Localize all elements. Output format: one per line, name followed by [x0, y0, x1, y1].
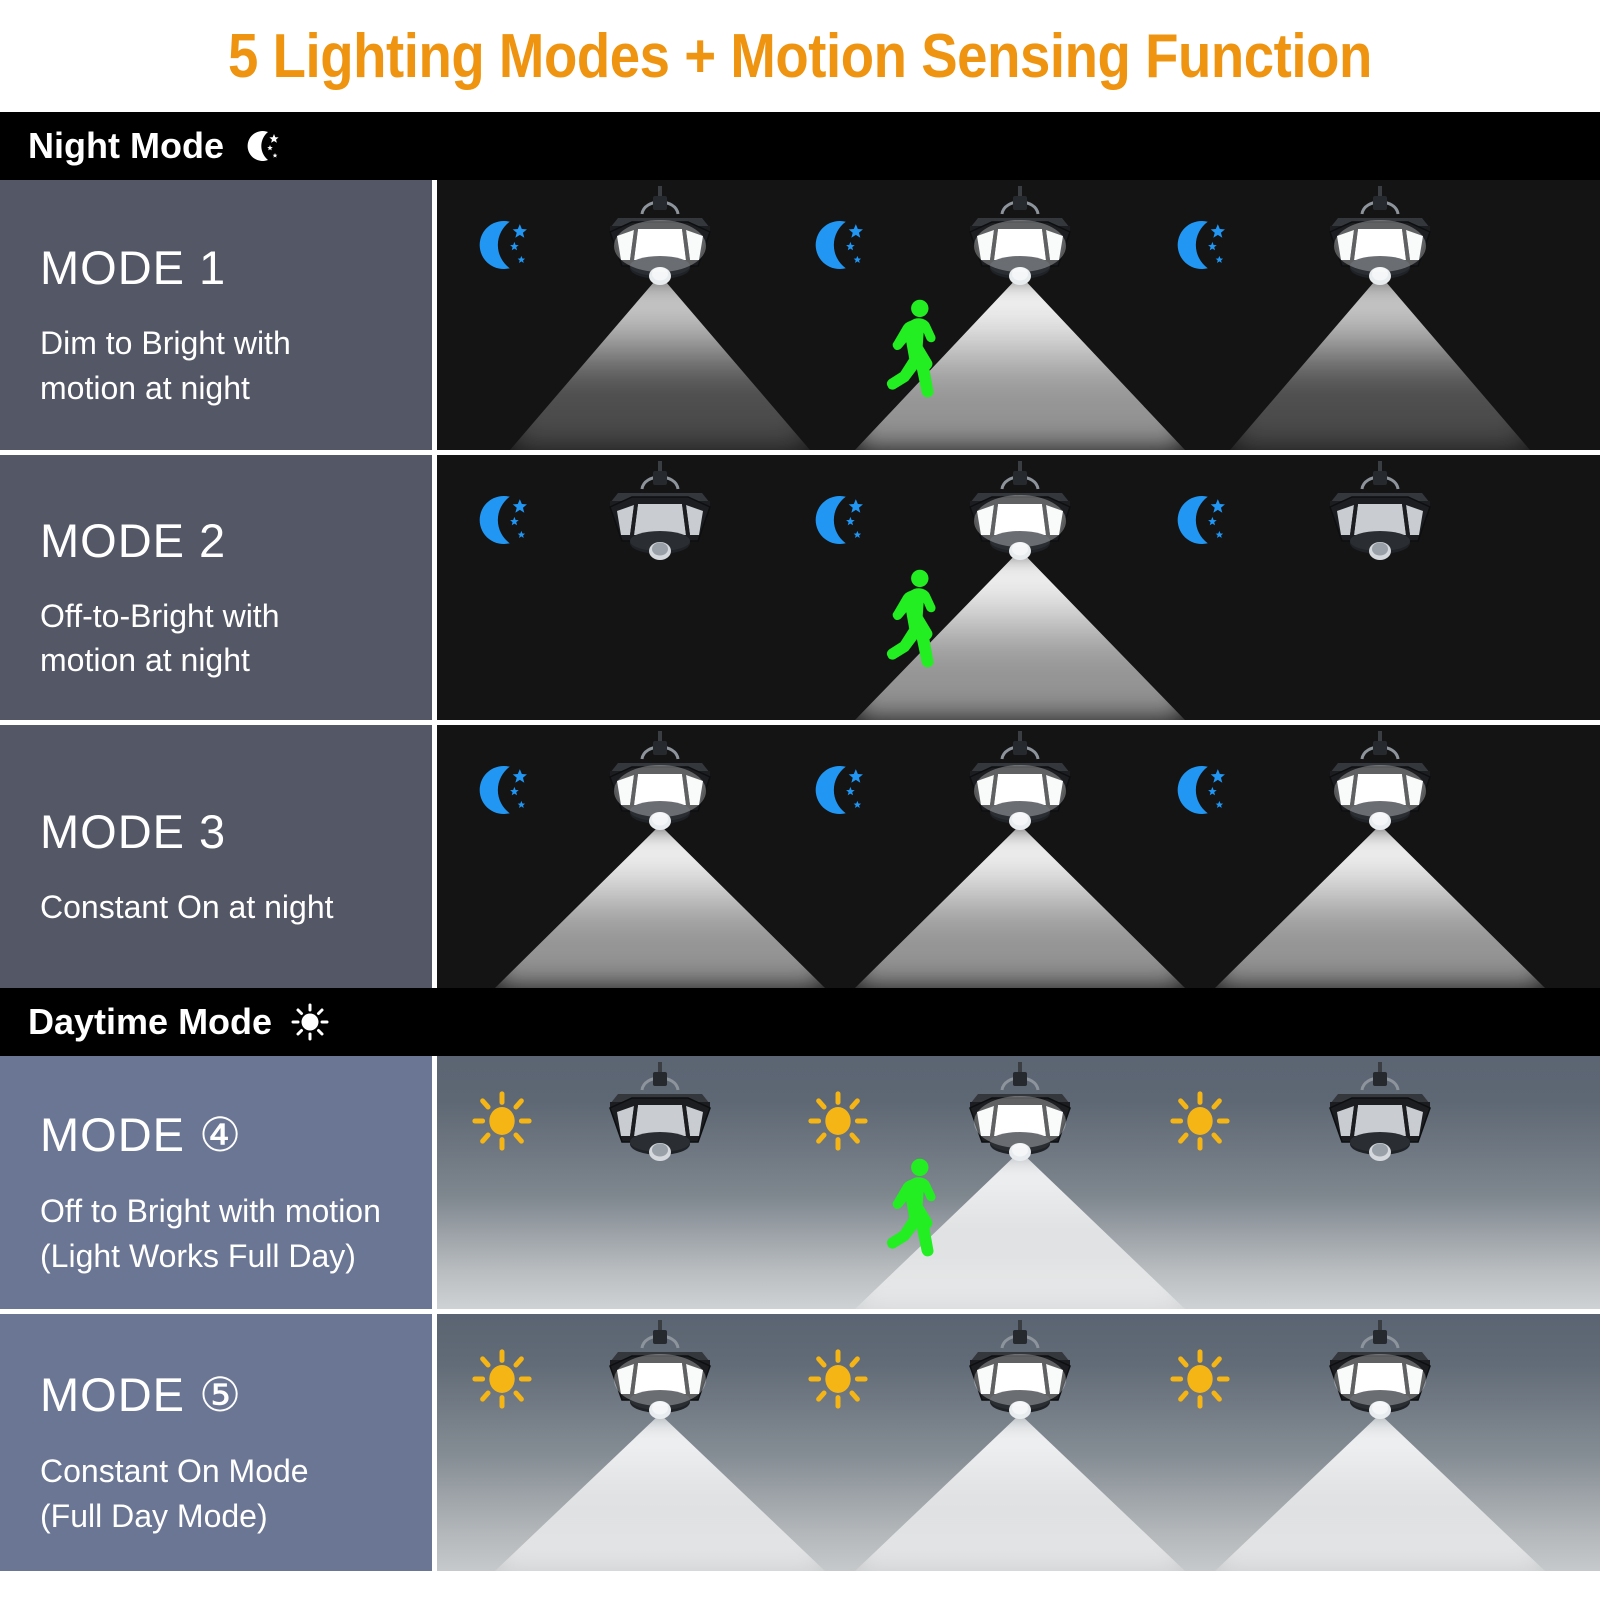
crescent-moon-icon: [471, 214, 533, 281]
solar-lamp-fixture: [1280, 729, 1480, 854]
infographic-page: 5 Lighting Modes + Motion Sensing Functi…: [0, 0, 1600, 1600]
sun-icon: [1169, 1348, 1231, 1415]
mode-title-2: MODE 2: [40, 513, 406, 568]
mode-description-3: Constant On at night: [40, 885, 406, 929]
sun-icon: [471, 1090, 533, 1157]
solar-lamp-fixture: [1280, 459, 1480, 584]
mode-row-2: MODE 2 Off-to-Bright withmotion at night: [0, 455, 1600, 725]
section-header-night: Night Mode: [0, 112, 1600, 180]
crescent-moon-icon: [807, 759, 869, 826]
crescent-moon-icon: [471, 489, 533, 556]
section-label-daytime: Daytime Mode: [28, 1001, 272, 1043]
solar-lamp-fixture: [920, 184, 1120, 309]
mode-description-line: (Full Day Mode): [40, 1494, 406, 1538]
mode-description-5: Constant On Mode(Full Day Mode): [40, 1449, 406, 1537]
sun-icon: [290, 1002, 330, 1042]
mode-info-panel-5: MODE ⑤ Constant On Mode(Full Day Mode): [0, 1314, 437, 1571]
mode-row-4: MODE ④ Off to Bright with motion(Light W…: [0, 1056, 1600, 1314]
solar-lamp-fixture: [560, 459, 760, 584]
solar-lamp-fixture: [560, 1060, 760, 1185]
crescent-moon-stars-icon: [242, 126, 282, 166]
mode-description-line: Constant On at night: [40, 885, 406, 929]
mode-description-line: Dim to Bright with: [40, 321, 406, 365]
mode-scene-5: [437, 1314, 1600, 1571]
sun-icon: [471, 1348, 533, 1415]
mode-description-line: Constant On Mode: [40, 1449, 406, 1493]
solar-lamp-fixture: [1280, 1318, 1480, 1443]
crescent-moon-icon: [471, 759, 533, 826]
motion-runner-silhouette: [885, 295, 943, 408]
mode-title-3: MODE 3: [40, 804, 406, 859]
crescent-moon-icon: [807, 489, 869, 556]
mode-title-4: MODE ④: [40, 1107, 406, 1163]
mode-info-panel-4: MODE ④ Off to Bright with motion(Light W…: [0, 1056, 437, 1309]
mode-info-panel-1: MODE 1 Dim to Bright withmotion at night: [0, 180, 437, 450]
section-label-night: Night Mode: [28, 125, 224, 167]
crescent-moon-icon: [1169, 214, 1231, 281]
mode-description-line: (Light Works Full Day): [40, 1234, 406, 1278]
section-header-daytime: Daytime Mode: [0, 988, 1600, 1056]
mode-title-1: MODE 1: [40, 240, 406, 295]
solar-lamp-fixture: [560, 729, 760, 854]
solar-lamp-fixture: [920, 729, 1120, 854]
sun-icon: [807, 1348, 869, 1415]
mode-row-1: MODE 1 Dim to Bright withmotion at night: [0, 180, 1600, 455]
crescent-moon-icon: [1169, 489, 1231, 556]
solar-lamp-fixture: [920, 1318, 1120, 1443]
solar-lamp-fixture: [920, 1060, 1120, 1185]
solar-lamp-fixture: [1280, 184, 1480, 309]
mode-description-line: motion at night: [40, 638, 406, 682]
page-title-bar: 5 Lighting Modes + Motion Sensing Functi…: [0, 0, 1600, 112]
mode-row-3: MODE 3 Constant On at night: [0, 725, 1600, 988]
crescent-moon-icon: [1169, 759, 1231, 826]
mode-info-panel-3: MODE 3 Constant On at night: [0, 725, 437, 988]
mode-description-line: Off-to-Bright with: [40, 594, 406, 638]
mode-title-5: MODE ⑤: [40, 1367, 406, 1423]
mode-scene-3: [437, 725, 1600, 988]
solar-lamp-fixture: [560, 1318, 760, 1443]
solar-lamp-fixture: [920, 459, 1120, 584]
crescent-moon-icon: [807, 214, 869, 281]
mode-scene-4: [437, 1056, 1600, 1309]
daytime-mode-rows: MODE ④ Off to Bright with motion(Light W…: [0, 1056, 1600, 1571]
mode-description-1: Dim to Bright withmotion at night: [40, 321, 406, 409]
night-mode-rows: MODE 1 Dim to Bright withmotion at night: [0, 180, 1600, 988]
mode-description-4: Off to Bright with motion(Light Works Fu…: [40, 1189, 406, 1277]
solar-lamp-fixture: [1280, 1060, 1480, 1185]
mode-description-line: motion at night: [40, 366, 406, 410]
motion-runner-silhouette: [885, 1154, 943, 1267]
sun-icon: [807, 1090, 869, 1157]
mode-description-line: Off to Bright with motion: [40, 1189, 406, 1233]
mode-description-2: Off-to-Bright withmotion at night: [40, 594, 406, 682]
sun-icon: [1169, 1090, 1231, 1157]
mode-row-5: MODE ⑤ Constant On Mode(Full Day Mode): [0, 1314, 1600, 1571]
mode-info-panel-2: MODE 2 Off-to-Bright withmotion at night: [0, 455, 437, 720]
page-title: 5 Lighting Modes + Motion Sensing Functi…: [228, 21, 1372, 92]
motion-runner-silhouette: [885, 565, 943, 678]
mode-scene-2: [437, 455, 1600, 720]
mode-scene-1: [437, 180, 1600, 450]
solar-lamp-fixture: [560, 184, 760, 309]
